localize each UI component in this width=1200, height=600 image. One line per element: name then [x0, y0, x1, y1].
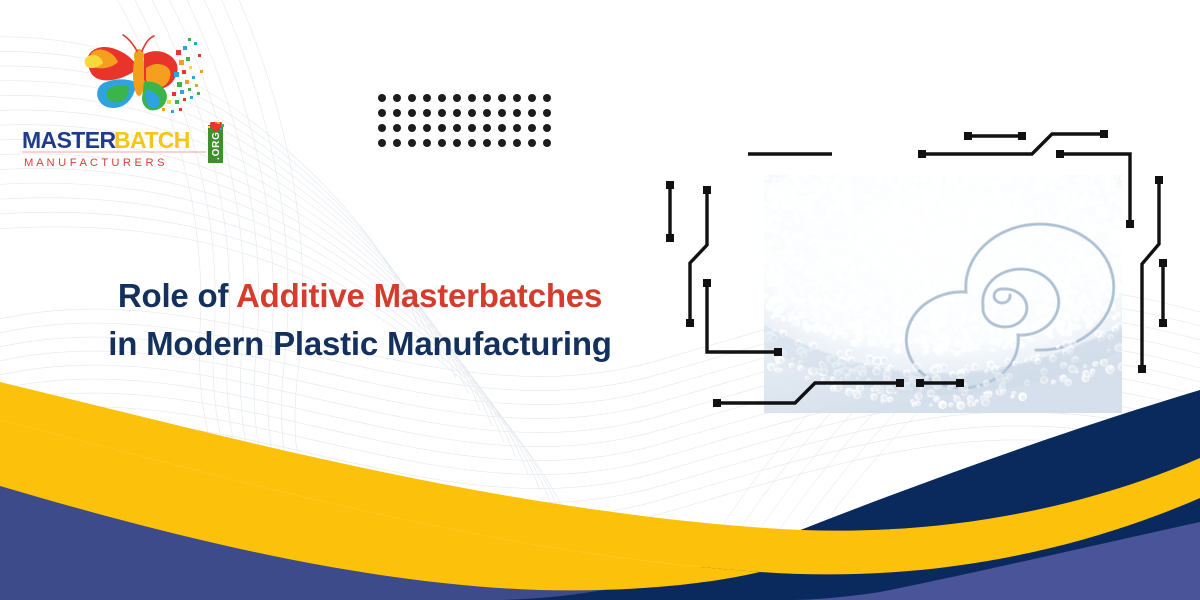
plastic-pellets-spiral-photo [764, 175, 1122, 413]
headline-line1-navy: Role of [118, 277, 236, 314]
dot-grid-decoration [377, 93, 557, 155]
headline-line3-navy: Plastic Manufacturing [273, 325, 612, 362]
butterfly-icon [76, 30, 206, 122]
banner-root: MASTER BATCH .ORG M A N U F A C T U R E … [0, 0, 1200, 600]
svg-text:M A N U F A C T U R E R S: M A N U F A C T U R E R S [24, 157, 165, 169]
headline-line2-red: Masterbatches [374, 277, 603, 314]
banner-headline: Role of Additive Masterbatches in Modern… [100, 272, 620, 368]
svg-text:.ORG: .ORG [211, 131, 222, 160]
svg-text:BATCH: BATCH [114, 127, 190, 153]
headline-line2-navy: in Modern [108, 325, 264, 362]
headline-line1-red: Additive [236, 277, 365, 314]
logo[interactable]: MASTER BATCH .ORG M A N U F A C T U R E … [18, 30, 248, 175]
logo-wordmark: MASTER BATCH .ORG M A N U F A C T U R E … [18, 122, 248, 174]
svg-text:MASTER: MASTER [22, 127, 117, 153]
